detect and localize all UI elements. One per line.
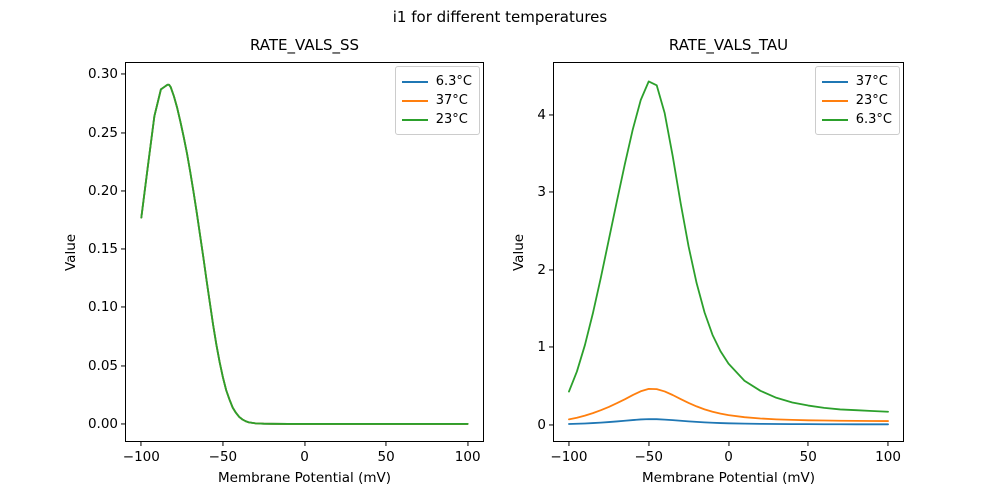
legend-item: 37°C (402, 91, 472, 110)
y-tick-mark (549, 424, 553, 425)
x-tick-label: 0 (724, 449, 733, 465)
x-tick-label: 50 (800, 449, 817, 465)
legend-label: 6.3°C (436, 74, 472, 89)
legend-label: 6.3°C (856, 112, 892, 127)
x-tick-label: 50 (377, 449, 394, 465)
legend-color-swatch (402, 119, 428, 121)
x-tick-label: −50 (209, 449, 238, 465)
x-tick-label: −100 (550, 449, 587, 465)
y-tick-mark (549, 192, 553, 193)
subplot-rate-vals-ss: RATE_VALS_SS 0.000.050.100.150.200.250.3… (125, 62, 484, 442)
y-axis-label: Value (63, 233, 79, 270)
legend: 6.3°C37°C23°C (395, 66, 480, 135)
y-tick-label: 1 (537, 339, 546, 355)
x-tick-mark (304, 442, 305, 446)
legend-label: 37°C (856, 74, 888, 89)
subplot-title: RATE_VALS_SS (125, 36, 484, 54)
x-tick-mark (222, 442, 223, 446)
x-tick-label: 100 (455, 449, 481, 465)
legend-item: 37°C (822, 72, 892, 91)
series-line (141, 85, 467, 424)
y-tick-mark (121, 365, 125, 366)
y-tick-mark (121, 423, 125, 424)
x-tick-mark (386, 442, 387, 446)
y-tick-mark (549, 269, 553, 270)
y-axis-label: Value (511, 233, 527, 270)
legend-color-swatch (822, 119, 848, 121)
y-tick-mark (549, 114, 553, 115)
x-axis-label: Membrane Potential (mV) (553, 470, 904, 486)
y-tick-label: 0.25 (88, 125, 118, 141)
x-tick-label: 100 (875, 449, 901, 465)
legend-color-swatch (822, 100, 848, 102)
matplotlib-figure: i1 for different temperatures RATE_VALS_… (0, 0, 1000, 500)
x-tick-mark (141, 442, 142, 446)
y-tick-mark (549, 347, 553, 348)
x-tick-label: −100 (123, 449, 160, 465)
y-tick-label: 0.00 (88, 416, 118, 432)
legend-item: 23°C (822, 91, 892, 110)
legend-label: 23°C (436, 112, 468, 127)
y-tick-label: 3 (537, 184, 546, 200)
series-line (141, 85, 467, 424)
series-line (141, 85, 467, 424)
legend-item: 6.3°C (822, 110, 892, 129)
subplot-title: RATE_VALS_TAU (553, 36, 904, 54)
legend: 37°C23°C6.3°C (815, 66, 900, 135)
y-tick-label: 0.15 (88, 241, 118, 257)
y-tick-label: 0.30 (88, 66, 118, 82)
y-tick-label: 0.05 (88, 358, 118, 374)
legend-color-swatch (402, 100, 428, 102)
figure-suptitle: i1 for different temperatures (0, 8, 1000, 26)
y-tick-label: 0 (537, 417, 546, 433)
legend-color-swatch (822, 81, 848, 83)
y-tick-mark (121, 190, 125, 191)
x-axis-label: Membrane Potential (mV) (125, 470, 484, 486)
subplot-rate-vals-tau: RATE_VALS_TAU 01234 −100−50050100 Membra… (553, 62, 904, 442)
y-tick-label: 4 (537, 107, 546, 123)
x-tick-mark (808, 442, 809, 446)
legend-item: 6.3°C (402, 72, 472, 91)
x-tick-mark (648, 442, 649, 446)
y-tick-mark (121, 249, 125, 250)
y-tick-label: 0.10 (88, 299, 118, 315)
legend-color-swatch (402, 81, 428, 83)
y-tick-mark (121, 74, 125, 75)
y-tick-mark (121, 307, 125, 308)
legend-label: 23°C (856, 93, 888, 108)
legend-item: 23°C (402, 110, 472, 129)
x-tick-mark (887, 442, 888, 446)
y-tick-mark (121, 132, 125, 133)
y-tick-label: 0.20 (88, 183, 118, 199)
x-tick-label: 0 (300, 449, 309, 465)
y-tick-label: 2 (537, 262, 546, 278)
series-line (569, 389, 888, 421)
x-tick-mark (728, 442, 729, 446)
legend-label: 37°C (436, 93, 468, 108)
x-tick-label: −50 (634, 449, 663, 465)
x-tick-mark (568, 442, 569, 446)
x-tick-mark (467, 442, 468, 446)
